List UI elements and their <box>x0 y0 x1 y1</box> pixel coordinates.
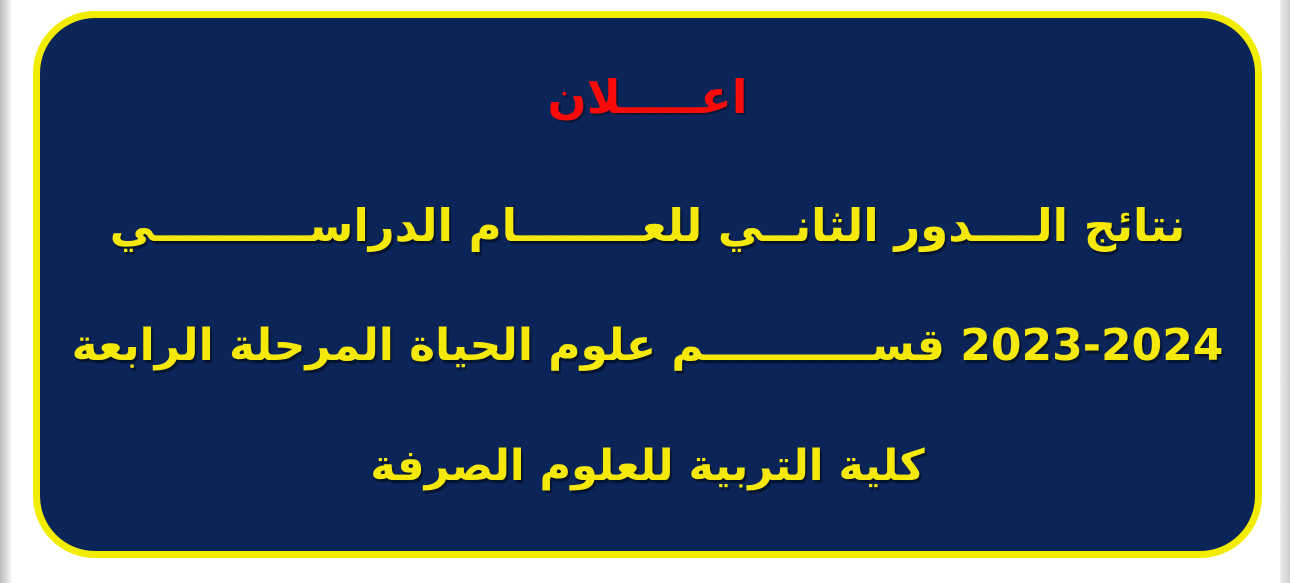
announcement-line-1: نتائج الــــدور الثانــي للعــــــــام ا… <box>40 166 1255 286</box>
announcement-heading: اعـــــلان <box>548 74 748 120</box>
page-edge-left-strip <box>0 0 11 583</box>
announcement-body: نتائج الــــدور الثانــي للعــــــــام ا… <box>40 166 1255 526</box>
announcement-line-2: 2023-2024 قســـــــــــم علوم الحياة الم… <box>40 286 1255 406</box>
announcement-line-3: كلية التربية للعلوم الصرفة <box>40 406 1255 526</box>
page-edge-right-strip <box>1281 0 1290 583</box>
announcement-card: اعـــــلان نتائج الــــدور الثانــي للعـ… <box>33 11 1262 558</box>
